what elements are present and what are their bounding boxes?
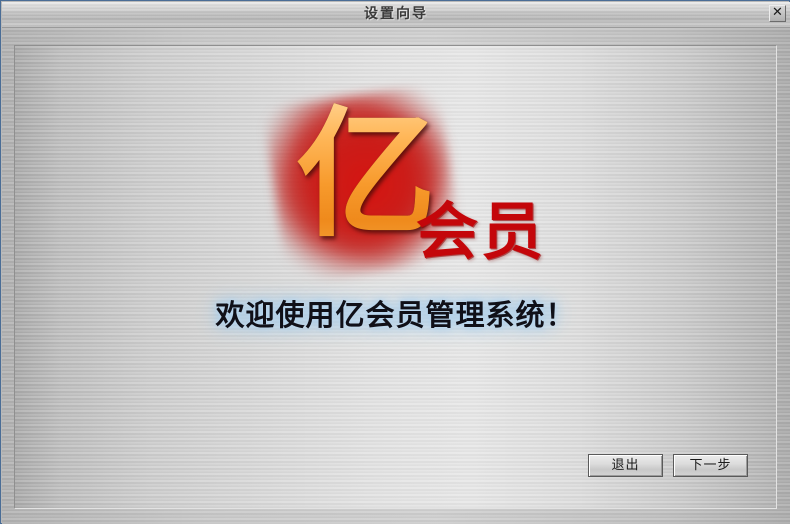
close-x-glyph: ✕ <box>770 5 785 21</box>
content-panel: 亿 亿 会员 欢迎使用亿会员管理系统！ 退出 下一步 <box>14 45 777 509</box>
logo-primary-char: 亿 <box>296 101 436 261</box>
logo-secondary-chars: 会员 <box>416 196 556 276</box>
wizard-button-row: 退出 下一步 <box>588 454 748 477</box>
setup-wizard-window: 设置向导 ✕ 亿 亿 会员 欢迎使用亿会员管理系统！ 退出 下一步 <box>0 0 790 524</box>
app-logo: 亿 亿 会员 <box>260 91 560 291</box>
title-bar[interactable]: 设置向导 ✕ <box>2 2 790 28</box>
welcome-message: 欢迎使用亿会员管理系统！ <box>15 292 776 334</box>
close-icon[interactable]: ✕ <box>769 5 786 22</box>
window-title: 设置向导 <box>2 4 790 24</box>
next-button[interactable]: 下一步 <box>673 454 748 477</box>
exit-button[interactable]: 退出 <box>588 454 663 477</box>
